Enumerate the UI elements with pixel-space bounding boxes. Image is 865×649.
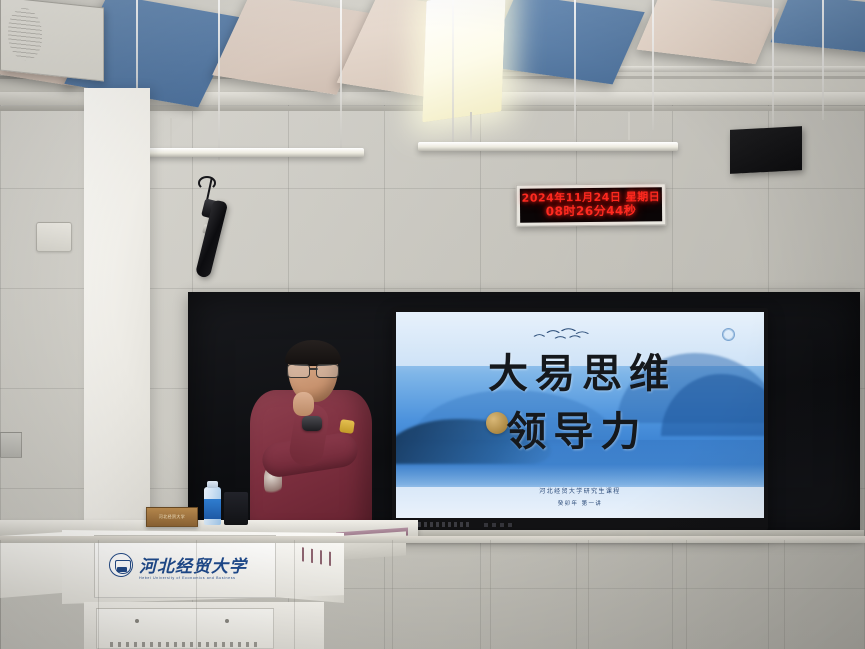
slide-title-line1: 大易思维 [488, 341, 676, 399]
bottle-label [204, 499, 221, 519]
pendant-lamp-left [128, 148, 364, 157]
led-screen: 2024年11月24日 星期日 08时26分44秒 [520, 187, 662, 222]
interactive-flat-panel[interactable]: 大易思维 领导力 河北经贸大学研究生课程 癸卯年 第一讲 [392, 308, 768, 530]
led-date-line: 2024年11月24日 星期日 [522, 192, 661, 205]
slide-title-line2: 领导力 [506, 399, 647, 457]
hanger-rod [340, 0, 342, 150]
wall-access-panel [36, 222, 72, 252]
lamp-hanger [170, 118, 172, 148]
lamp-hanger [628, 112, 630, 140]
nameplate-text: 河北经贸大学 [159, 514, 185, 520]
led-time-line: 08时26分44秒 [546, 204, 637, 218]
slide-subtitle-line2: 癸卯年 第一讲 [396, 499, 764, 507]
recessed-ceiling-light [422, 0, 505, 122]
lamp-hanger [470, 112, 472, 142]
panel-screen[interactable]: 大易思维 领导力 河北经贸大学研究生课程 癸卯年 第一讲 [396, 312, 764, 518]
wristwatch [302, 416, 322, 431]
lamp-hanger [318, 118, 320, 146]
pendant-lamp-right [418, 142, 678, 151]
wall-mounted-black-unit [730, 126, 802, 174]
slide-subtitle-line1: 河北经贸大学研究生课程 [396, 486, 764, 495]
panel-buttons[interactable] [484, 523, 514, 527]
wooden-nameplate: 河北经贸大学 [146, 507, 198, 527]
slide-accent-dot [486, 412, 508, 434]
water-bottle[interactable] [204, 487, 221, 525]
microphone-cable-loop [198, 176, 216, 190]
dark-desk-object [224, 492, 248, 525]
presenter [244, 342, 374, 542]
lower-wall [0, 540, 865, 649]
hanger-rod [452, 0, 454, 150]
wall-column [84, 88, 150, 558]
hanger-rod [822, 0, 824, 120]
hanger-rod [574, 0, 576, 140]
led-clock-sign: 2024年11月24日 星期日 08时26分44秒 [516, 183, 666, 227]
lecture-hall-photo: 2024年11月24日 星期日 08时26分44秒 [0, 0, 865, 649]
gold-badge [339, 419, 355, 434]
hanger-rod [772, 0, 774, 128]
presenter-hair [285, 340, 341, 366]
hanger-rod [652, 0, 654, 130]
hanger-rod [218, 0, 220, 160]
presenter-hand [293, 392, 314, 416]
wall-speaker [0, 0, 104, 81]
glasses-icon [286, 364, 340, 376]
wall-outlet [0, 432, 22, 458]
slide-seal-icon [722, 328, 735, 341]
bottle-cap [207, 481, 218, 488]
